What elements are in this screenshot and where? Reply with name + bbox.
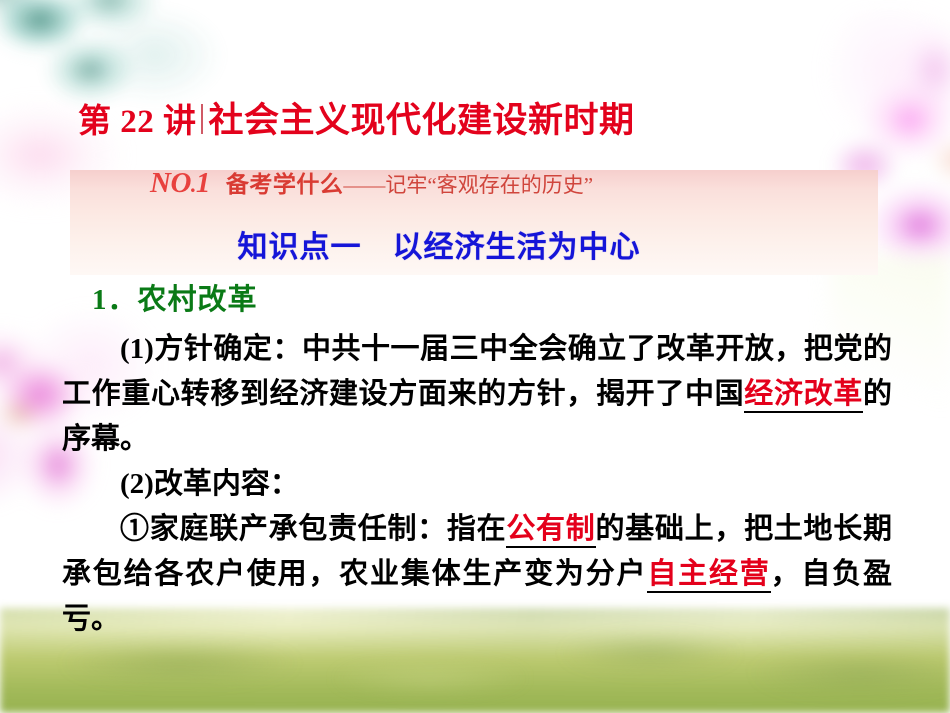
slide-content: 第 22 讲 社会主义现代化建设新时期 NO.1备考学什么——记牢“客观存在的历… (0, 0, 950, 713)
slide-title: 第 22 讲 社会主义现代化建设新时期 (78, 92, 635, 143)
section-no-label: NO (150, 167, 191, 199)
page-title: 社会主义现代化建设新时期 (209, 92, 635, 143)
section-label: 备考学什么 (226, 172, 344, 197)
paragraph-1-text-a: (1)方针确定：中共十一届三中全会确立了改革开放，把党的 (120, 333, 892, 365)
body-heading-1: 1．农村改革 (0, 278, 950, 323)
slide-body: 1．农村改革 (1)方针确定：中共十一届三中全会确立了改革开放，把党的工作重心转… (0, 278, 950, 642)
knowledge-point-title: 知识点一 以经济生活为中心 (0, 222, 950, 266)
section-number-badge: NO.1 (150, 167, 210, 199)
body-paragraph-1: (1)方针确定：中共十一届三中全会确立了改革开放，把党的工作重心转移到经济建设方… (0, 327, 950, 462)
paragraph-3-text-a: ①家庭联产承包责任制：指在 (120, 513, 506, 545)
presentation-slide: 第 22 讲 社会主义现代化建设新时期 NO.1备考学什么——记牢“客观存在的历… (0, 0, 950, 713)
highlight-economic-reform: 经济改革 (744, 378, 863, 413)
section-banner-heading: NO.1备考学什么——记牢“客观存在的历史” (150, 165, 593, 200)
body-paragraph-2: (2)改革内容： (0, 462, 950, 507)
section-subtitle: ——记牢“客观存在的历史” (343, 173, 593, 197)
highlight-public-ownership: 公有制 (506, 513, 595, 548)
paragraph-1-text-b: 工作重心转移到经济建设方面来的方针，揭开了中国 (62, 378, 744, 410)
section-no-number: 1 (196, 167, 210, 199)
highlight-independent-operation: 自主经营 (647, 558, 770, 593)
body-paragraph-3: ①家庭联产承包责任制：指在公有制的基础上，把土地长期承包给各农户使用，农业集体生… (0, 507, 950, 642)
lesson-number: 第 22 讲 (78, 94, 197, 142)
title-separator-divider (201, 104, 203, 134)
